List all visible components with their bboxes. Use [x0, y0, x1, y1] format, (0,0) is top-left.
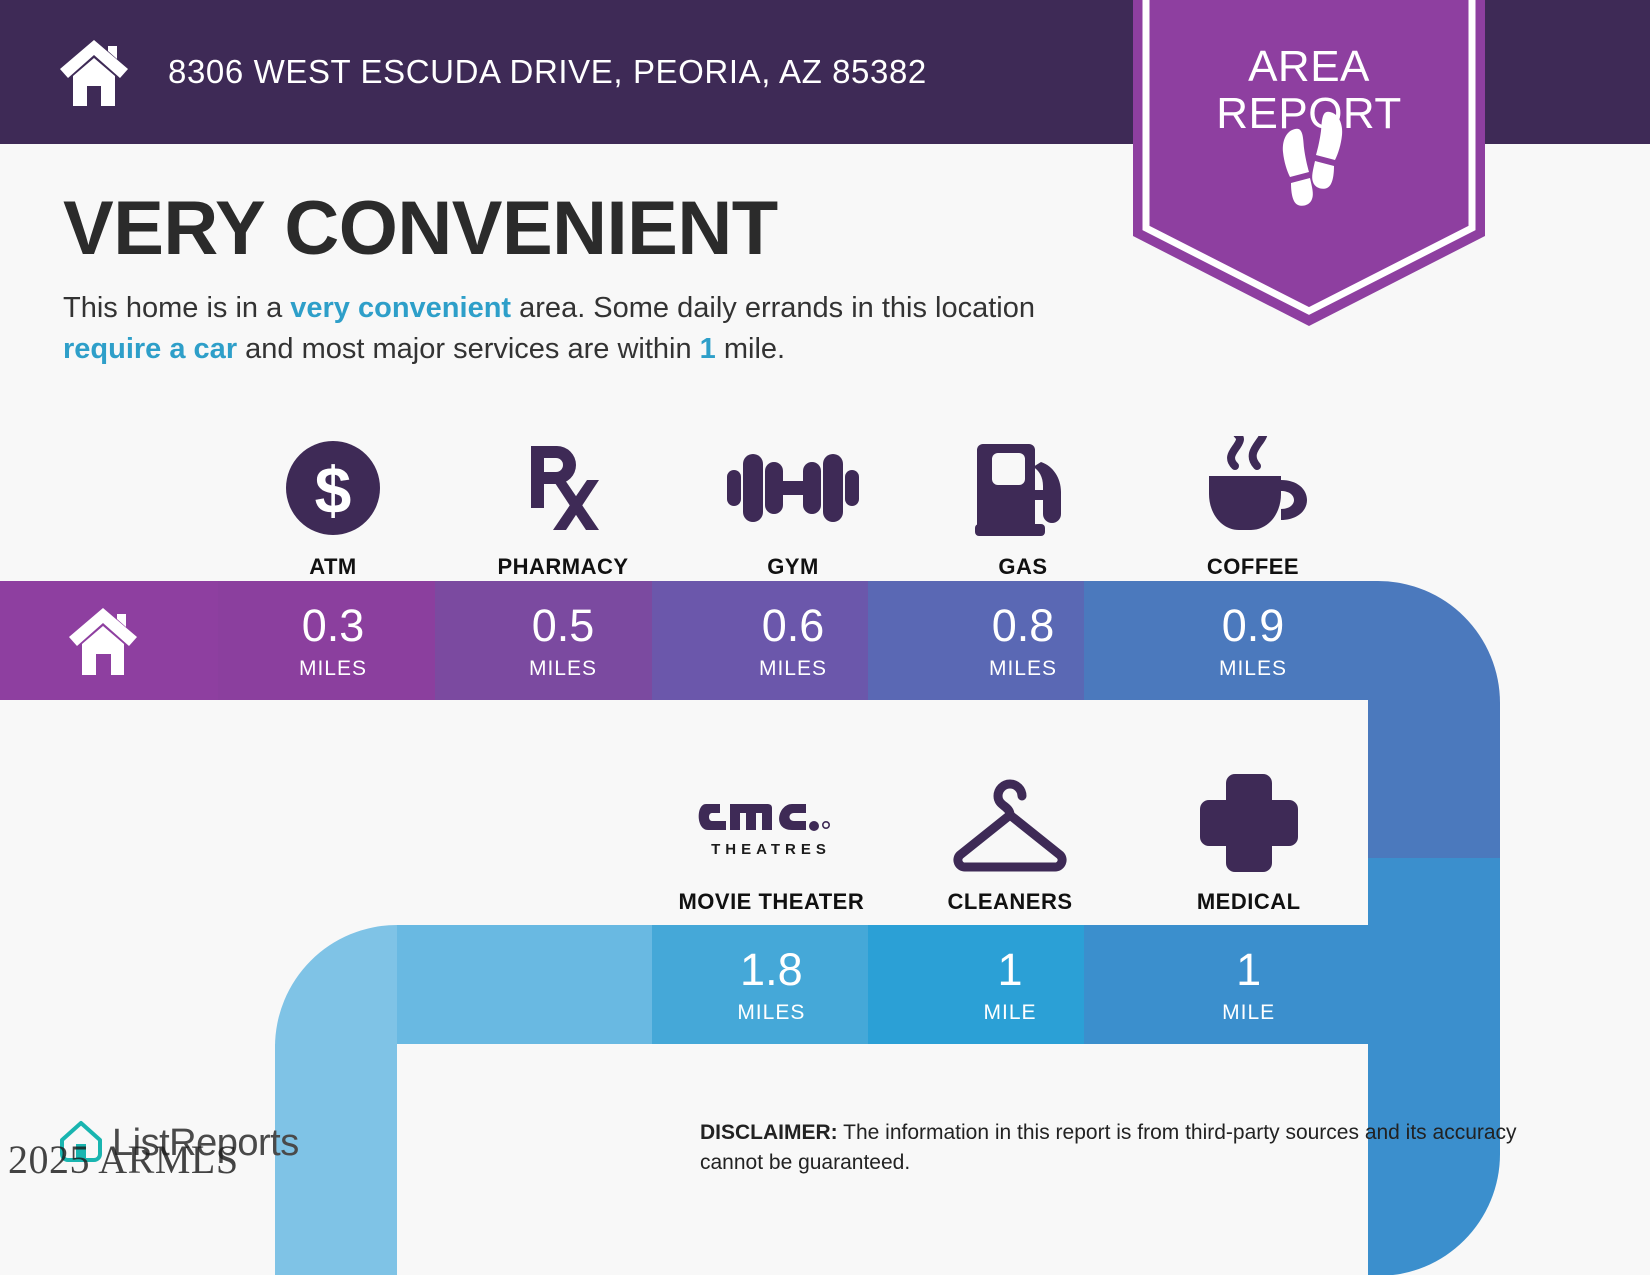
svg-text:$: $	[315, 453, 352, 527]
rx-icon	[513, 434, 613, 542]
distance-unit: MILES	[1219, 657, 1287, 681]
summary-part-2: area. Some daily errands in this locatio…	[511, 292, 1035, 324]
page-title: VERY CONVENIENT	[63, 185, 778, 272]
summary-part-1: This home is in a	[63, 292, 290, 324]
category-label: GYM	[767, 554, 819, 580]
distance-medical: 1 MILE	[1129, 925, 1368, 1047]
area-report-page: 8306 WEST ESCUDA DRIVE, PEORIA, AZ 85382…	[0, 0, 1650, 1275]
category-atm: $ ATM	[218, 418, 448, 580]
distance-value: 1	[997, 947, 1022, 992]
gas-pump-icon	[971, 434, 1075, 542]
dumbbell-icon	[727, 434, 859, 542]
medical-cross-icon	[1197, 769, 1301, 877]
category-label: CLEANERS	[948, 889, 1073, 915]
summary-highlight-3: 1	[700, 333, 716, 365]
uturn-lower	[1368, 858, 1500, 1275]
distance-cleaners: 1 MILE	[891, 925, 1130, 1047]
category-label: GAS	[998, 554, 1047, 580]
category-medical: MEDICAL	[1129, 755, 1368, 915]
summary-text: This home is in a very convenient area. …	[63, 288, 1113, 370]
category-cleaners: CLEANERS	[891, 755, 1130, 915]
segment-tail-corner	[275, 925, 397, 1047]
summary-highlight-2: require a car	[63, 333, 237, 365]
distance-value: 0.6	[762, 603, 825, 648]
distance-values-row-1: 0.3 MILES 0.5 MILES 0.6 MILES 0.8 MILES …	[218, 581, 1368, 703]
distance-values-row-2: 1.8 MILES 1 MILE 1 MILE	[652, 925, 1368, 1047]
distance-unit: MILE	[1222, 1001, 1275, 1025]
distance-value: 1	[1236, 947, 1261, 992]
distance-atm: 0.3 MILES	[218, 581, 448, 703]
dollar-circle-icon: $	[284, 434, 382, 542]
category-gas: GAS	[908, 418, 1138, 580]
distance-value: 0.3	[302, 603, 365, 648]
category-movie-theater: THEATRES MOVIE THEATER	[652, 755, 891, 915]
summary-highlight-1: very convenient	[290, 292, 511, 324]
category-label: MOVIE THEATER	[678, 889, 864, 915]
category-label: PHARMACY	[497, 554, 628, 580]
distance-movie-theater: 1.8 MILES	[652, 925, 891, 1047]
distance-value: 0.5	[532, 603, 595, 648]
distance-unit: MILES	[299, 657, 367, 681]
distance-unit: MILE	[984, 1001, 1037, 1025]
distance-unit: MILES	[737, 1001, 805, 1025]
home-icon	[56, 36, 132, 108]
category-gym: GYM	[678, 418, 908, 580]
amc-theatres-logo-icon: THEATRES	[696, 769, 846, 877]
category-label: ATM	[309, 554, 357, 580]
category-pharmacy: PHARMACY	[448, 418, 678, 580]
disclaimer-label: DISCLAIMER:	[700, 1121, 838, 1144]
distance-gas: 0.8 MILES	[908, 581, 1138, 703]
category-coffee: COFFEE	[1138, 418, 1368, 580]
category-label: COFFEE	[1207, 554, 1299, 580]
area-report-badge: AREA REPORT	[1133, 0, 1485, 326]
distance-value: 0.8	[992, 603, 1055, 648]
clothes-hanger-icon	[950, 769, 1070, 877]
distance-value: 1.8	[740, 947, 803, 992]
coffee-cup-icon	[1195, 434, 1311, 542]
disclaimer: DISCLAIMER: The information in this repo…	[700, 1118, 1530, 1179]
distance-gym: 0.6 MILES	[678, 581, 908, 703]
category-row-2: THEATRES MOVIE THEATER CLEANERS	[652, 755, 1368, 915]
home-marker-icon	[66, 605, 140, 677]
distance-unit: MILES	[759, 657, 827, 681]
segment-tail-mid	[397, 925, 652, 1044]
category-row-1: $ ATM PHARMACY	[218, 418, 1368, 580]
summary-part-3: and most major services are within	[237, 333, 700, 365]
distance-unit: MILES	[529, 657, 597, 681]
property-address: 8306 WEST ESCUDA DRIVE, PEORIA, AZ 85382	[168, 53, 927, 91]
category-label: MEDICAL	[1197, 889, 1301, 915]
distance-coffee: 0.9 MILES	[1138, 581, 1368, 703]
svg-text:THEATRES: THEATRES	[711, 841, 831, 858]
armls-watermark: 2025 ARMLS	[8, 1136, 239, 1183]
summary-part-4: mile.	[716, 333, 785, 365]
distance-pharmacy: 0.5 MILES	[448, 581, 678, 703]
distance-unit: MILES	[989, 657, 1057, 681]
distance-value: 0.9	[1222, 603, 1285, 648]
